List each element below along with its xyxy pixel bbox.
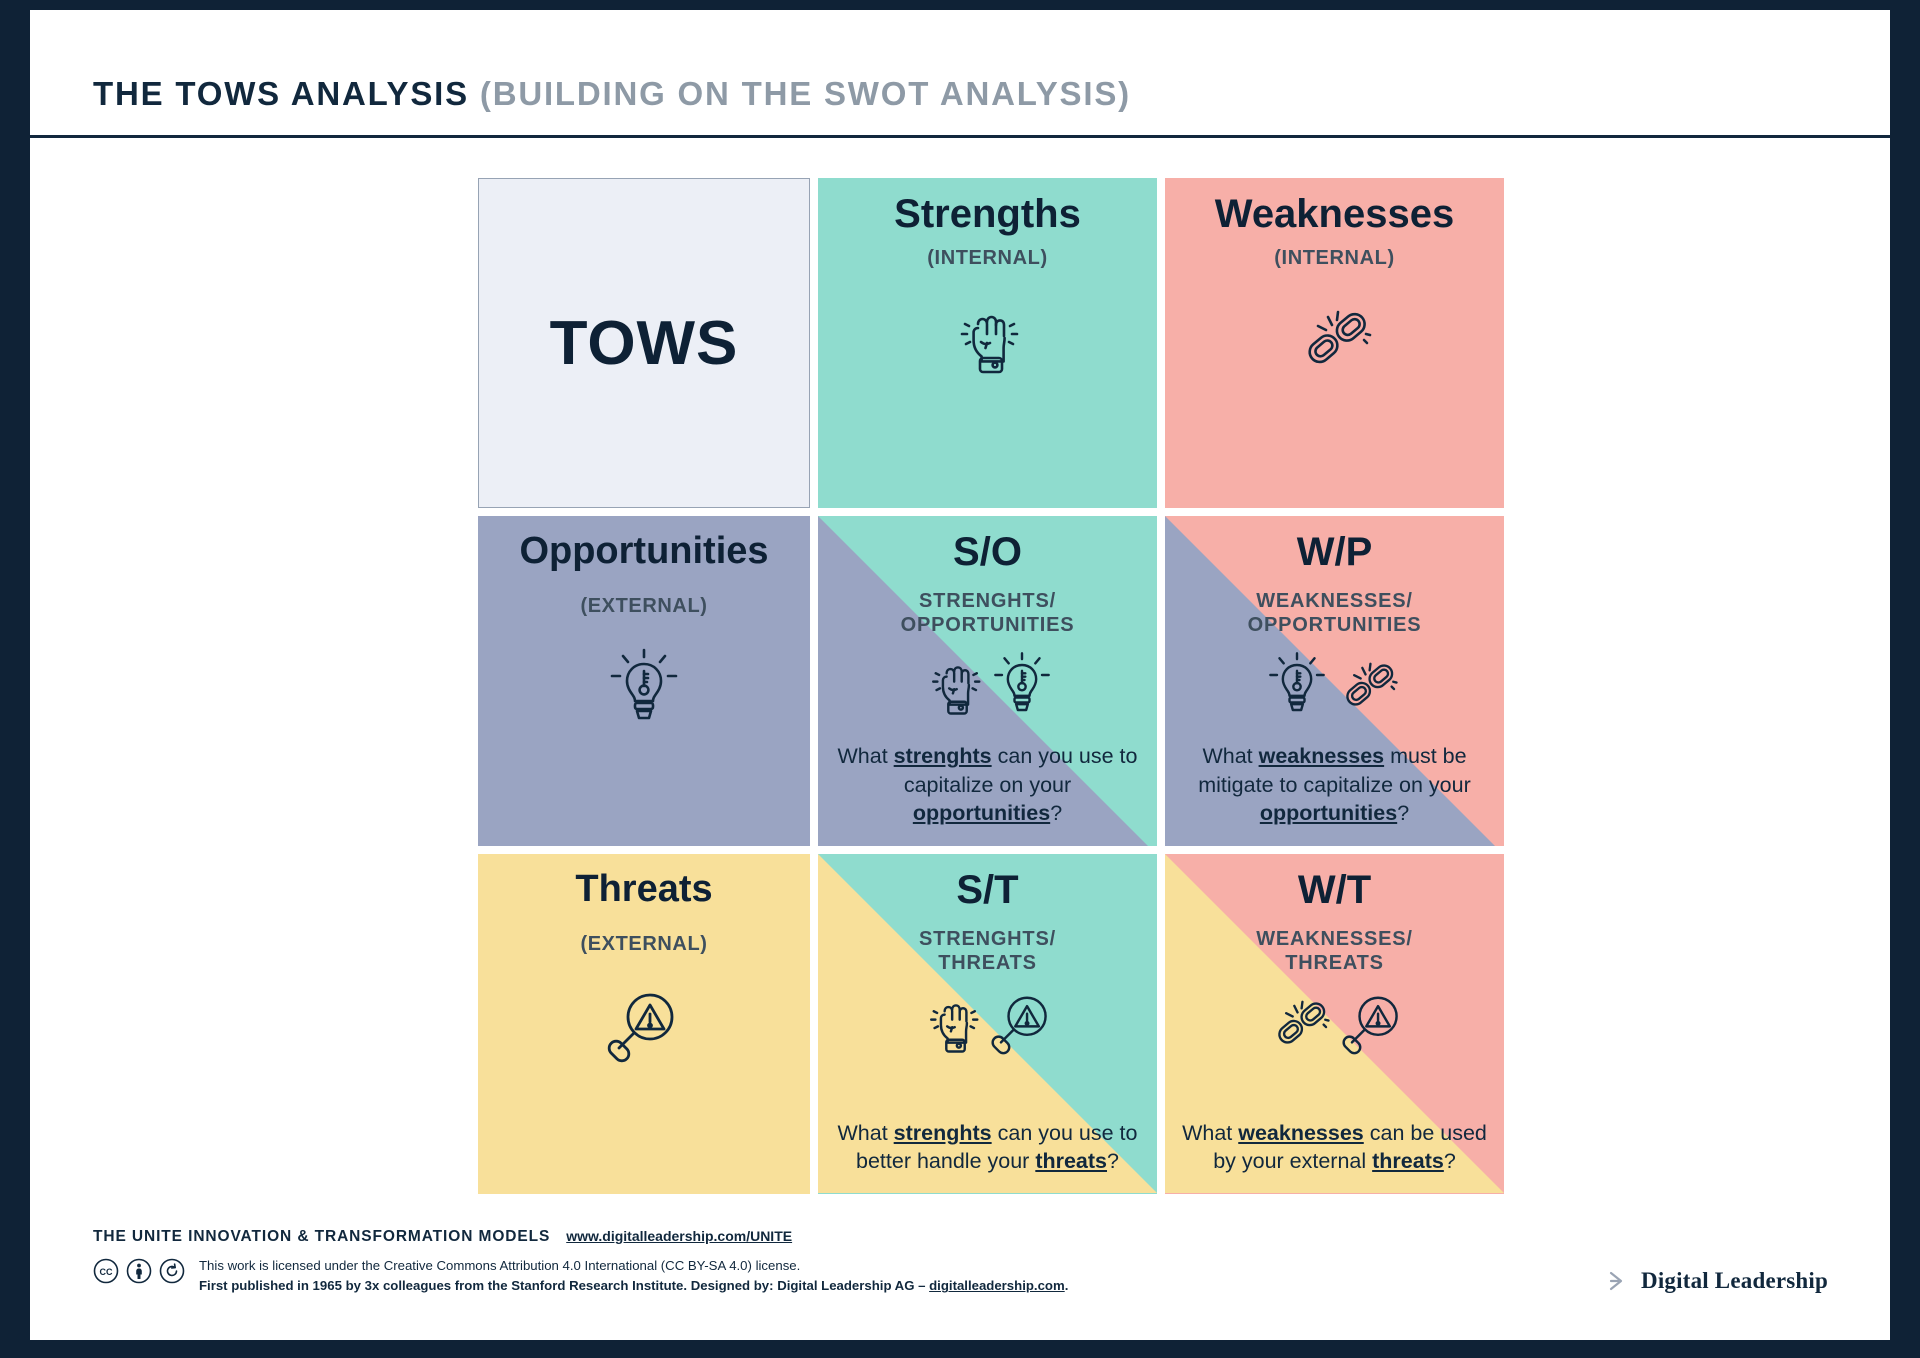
- lightbulb-key-icon: [1267, 650, 1327, 720]
- threats-icon-row: [606, 984, 682, 1066]
- so-q-part1: What: [838, 744, 894, 768]
- magnifier-warning-icon: [606, 984, 682, 1066]
- brand-logo: Digital Leadership: [1606, 1268, 1828, 1294]
- wp-question: What weaknesses must be mitigate to capi…: [1165, 742, 1504, 828]
- wt-pair-label: WEAKNESSES/ THREATS: [1256, 927, 1413, 976]
- st-q-part1: What: [838, 1121, 894, 1145]
- wp-pair-line2: OPPORTUNITIES: [1248, 614, 1422, 636]
- wt-q-em1: weaknesses: [1238, 1121, 1364, 1145]
- poster-page: THE TOWS ANALYSIS (BUILDING ON THE SWOT …: [30, 10, 1890, 1340]
- published-link[interactable]: digitalleadership.com: [929, 1278, 1065, 1293]
- strengths-title: Strengths: [894, 192, 1081, 237]
- wp-q-part1: What: [1202, 744, 1258, 768]
- wt-q-part1: What: [1182, 1121, 1238, 1145]
- by-person-icon: [126, 1258, 152, 1284]
- matrix-cell-st: S/T STRENGHTS/ THREATS: [818, 854, 1157, 1194]
- page-title-strong: THE TOWS ANALYSIS: [93, 75, 469, 112]
- fist-icon: [924, 651, 986, 719]
- footer-license-block: CC: [93, 1254, 1068, 1297]
- so-pair-line1: STRENGHTS/: [919, 590, 1056, 612]
- wp-q-em2: opportunities: [1260, 801, 1397, 825]
- fist-icon: [951, 298, 1025, 378]
- threats-scope: (EXTERNAL): [580, 933, 707, 956]
- broken-chain-icon: [1292, 298, 1378, 378]
- opportunities-title: Opportunities: [519, 530, 768, 573]
- matrix-cell-tows-corner: TOWS: [478, 178, 810, 508]
- st-q-em1: strenghts: [894, 1121, 992, 1145]
- published-period: .: [1065, 1278, 1069, 1293]
- so-q-part3: ?: [1050, 801, 1062, 825]
- license-text-lines: This work is licensed under the Creative…: [199, 1254, 1068, 1297]
- wt-icon-row: [1265, 988, 1405, 1058]
- brand-name: Digital Leadership: [1641, 1268, 1828, 1294]
- matrix-cell-opportunities: Opportunities (EXTERNAL): [478, 516, 810, 846]
- wp-q-em1: weaknesses: [1259, 744, 1385, 768]
- so-pair-label: STRENGHTS/ OPPORTUNITIES: [901, 589, 1075, 638]
- so-pair-line2: OPPORTUNITIES: [901, 614, 1075, 636]
- page-footer: THE UNITE INNOVATION & TRANSFORMATION MO…: [30, 1228, 1890, 1318]
- st-q-part3: ?: [1107, 1149, 1119, 1173]
- threats-title: Threats: [575, 868, 712, 911]
- opportunities-icon-row: [608, 646, 680, 730]
- magnifier-warning-icon: [990, 988, 1054, 1058]
- st-q-em2: threats: [1035, 1149, 1107, 1173]
- so-q-em2: opportunities: [913, 801, 1050, 825]
- lightbulb-key-icon: [992, 650, 1052, 720]
- wt-code: W/T: [1298, 868, 1371, 913]
- share-alike-icon: [159, 1258, 185, 1284]
- matrix-cell-threats: Threats (EXTERNAL): [478, 854, 810, 1194]
- wp-icon-row: [1267, 650, 1403, 720]
- st-pair-label: STRENGHTS/ THREATS: [919, 927, 1056, 976]
- cc-icon: CC: [93, 1258, 119, 1284]
- so-code: S/O: [953, 530, 1022, 575]
- matrix-cell-wt: W/T WEAKNESSES/ THREATS: [1165, 854, 1504, 1194]
- unite-models-link[interactable]: www.digitalleadership.com/UNITE: [566, 1228, 792, 1244]
- matrix-cell-wp: W/P WEAKNESSES/ OPPORTUNITIES: [1165, 516, 1504, 846]
- wt-pair-line1: WEAKNESSES/: [1256, 928, 1413, 950]
- unite-models-title: THE UNITE INNOVATION & TRANSFORMATION MO…: [93, 1228, 550, 1246]
- license-line: This work is licensed under the Creative…: [199, 1256, 1068, 1276]
- svg-text:CC: CC: [100, 1267, 113, 1277]
- opportunities-scope: (EXTERNAL): [580, 595, 707, 618]
- magnifier-warning-icon: [1341, 988, 1405, 1058]
- so-question: What strenghts can you use to capitalize…: [818, 742, 1157, 828]
- st-pair-line1: STRENGHTS/: [919, 928, 1056, 950]
- st-code: S/T: [956, 868, 1018, 913]
- so-q-em1: strenghts: [894, 744, 992, 768]
- wt-q-part3: ?: [1444, 1149, 1456, 1173]
- published-line: First published in 1965 by 3x colleagues…: [199, 1276, 1068, 1296]
- st-question: What strenghts can you use to better han…: [818, 1119, 1157, 1176]
- page-header: THE TOWS ANALYSIS (BUILDING ON THE SWOT …: [30, 10, 1890, 138]
- broken-chain-icon: [1333, 652, 1403, 718]
- st-icon-row: [922, 988, 1054, 1058]
- lightbulb-key-icon: [608, 646, 680, 730]
- chevron-right-icon: [1606, 1269, 1628, 1293]
- fist-icon: [922, 989, 984, 1057]
- published-text: First published in 1965 by 3x colleagues…: [199, 1278, 929, 1293]
- strengths-scope: (INTERNAL): [927, 247, 1047, 270]
- page-title-muted: (BUILDING ON THE SWOT ANALYSIS): [480, 75, 1131, 112]
- weaknesses-title: Weaknesses: [1215, 192, 1454, 237]
- st-pair-line2: THREATS: [938, 952, 1037, 974]
- cc-badge-group: CC: [93, 1254, 185, 1284]
- footer-heading: THE UNITE INNOVATION & TRANSFORMATION MO…: [93, 1228, 792, 1246]
- matrix-cell-weaknesses: Weaknesses (INTERNAL): [1165, 178, 1504, 508]
- wt-q-em2: threats: [1372, 1149, 1444, 1173]
- wp-pair-line1: WEAKNESSES/: [1256, 590, 1413, 612]
- so-icon-row: [924, 650, 1052, 720]
- matrix-cell-strengths: Strengths (INTERNAL): [818, 178, 1157, 508]
- tows-label: TOWS: [550, 308, 739, 379]
- weaknesses-scope: (INTERNAL): [1274, 247, 1394, 270]
- matrix-cell-so: S/O STRENGHTS/ OPPORTUNITIES: [818, 516, 1157, 846]
- wp-pair-label: WEAKNESSES/ OPPORTUNITIES: [1248, 589, 1422, 638]
- broken-chain-icon: [1265, 990, 1335, 1056]
- wp-q-part3: ?: [1397, 801, 1409, 825]
- wt-question: What weaknesses can be used by your exte…: [1165, 1119, 1504, 1176]
- wt-pair-line2: THREATS: [1285, 952, 1384, 974]
- tows-matrix: TOWS Strengths (INTERNAL): [478, 178, 1488, 1193]
- page-title: THE TOWS ANALYSIS (BUILDING ON THE SWOT …: [93, 75, 1131, 113]
- strengths-icon-row: [951, 298, 1025, 378]
- wp-code: W/P: [1297, 530, 1373, 575]
- weaknesses-icon-row: [1292, 298, 1378, 378]
